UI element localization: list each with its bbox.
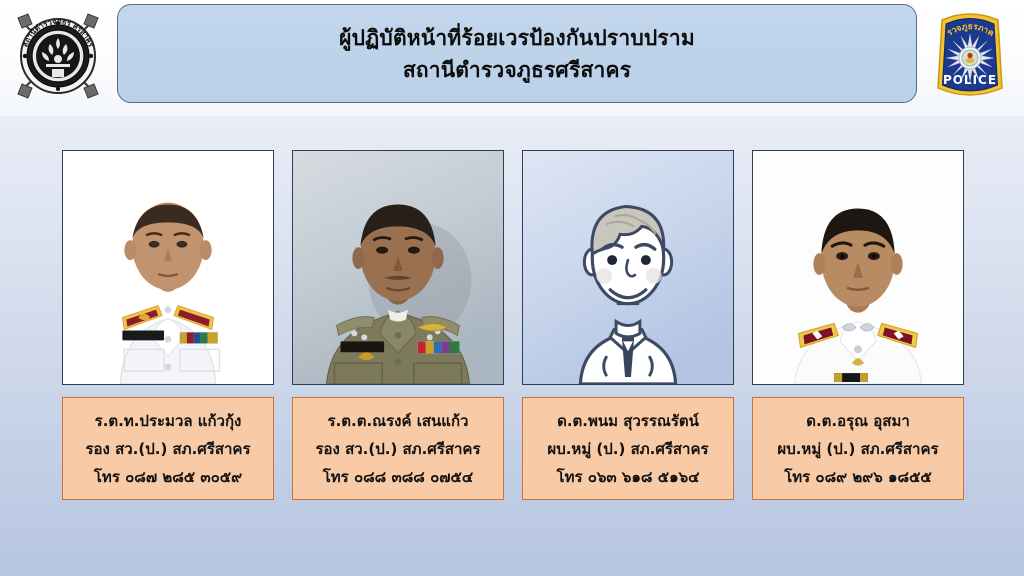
officer-name-card: ด.ต.อรุณ อุสมา ผบ.หมู่ (ป.) สภ.ศรีสาคร โ… bbox=[752, 397, 964, 500]
officer-photo-white-uniform-young bbox=[753, 151, 963, 384]
officer-name-card: ด.ต.พนม สุวรรณรัตน์ ผบ.หมู่ (ป.) สภ.ศรีส… bbox=[522, 397, 734, 500]
officer-name: ร.ต.ต.ณรงค์ เสนแก้ว bbox=[328, 407, 469, 435]
badge-bottom-text: POLICE bbox=[943, 73, 997, 87]
officer-photo-frame bbox=[522, 150, 734, 385]
officer-photo-frame bbox=[752, 150, 964, 385]
officer-name-card: ร.ต.ต.ณรงค์ เสนแก้ว รอง สว.(ป.) สภ.ศรีสา… bbox=[292, 397, 504, 500]
officer-position: รอง สว.(ป.) สภ.ศรีสาคร bbox=[315, 435, 480, 463]
officer-position: ผบ.หมู่ (ป.) สภ.ศรีสาคร bbox=[777, 435, 938, 463]
officer-photo-white-uniform bbox=[63, 151, 273, 384]
page-title-line-2: สถานีตำรวจภูธรศรีสาคร bbox=[403, 54, 631, 86]
police-station-seal-icon: สถานีตำรวจภูธร ศรีสาคร SRISAKHON POLICE … bbox=[6, 4, 110, 108]
page-title-line-1: ผู้ปฏิบัติหน้าที่ร้อยเวรป้องกันปราบปราม bbox=[339, 22, 695, 54]
officer-card: ด.ต.พนม สุวรรณรัตน์ ผบ.หมู่ (ป.) สภ.ศรีส… bbox=[522, 150, 734, 500]
officer-name-card: ร.ต.ท.ประมวล แก้วกุ้ง รอง สว.(ป.) สภ.ศรี… bbox=[62, 397, 274, 500]
officer-position: รอง สว.(ป.) สภ.ศรีสาคร bbox=[85, 435, 250, 463]
avatar-placeholder-icon bbox=[523, 151, 733, 384]
officer-photo-frame bbox=[62, 150, 274, 385]
officer-name: ด.ต.พนม สุวรรณรัตน์ bbox=[557, 407, 699, 435]
officer-photo-frame bbox=[292, 150, 504, 385]
officer-phone: โทร ๐๘๘ ๓๘๘ ๐๗๕๔ bbox=[323, 463, 474, 491]
officer-name: ด.ต.อรุณ อุสมา bbox=[806, 407, 910, 435]
officer-card: ร.ต.ท.ประมวล แก้วกุ้ง รอง สว.(ป.) สภ.ศรี… bbox=[62, 150, 274, 500]
officer-card: ร.ต.ต.ณรงค์ เสนแก้ว รอง สว.(ป.) สภ.ศรีสา… bbox=[292, 150, 504, 500]
officer-photo-khaki-uniform bbox=[293, 151, 503, 384]
title-banner: ผู้ปฏิบัติหน้าที่ร้อยเวรป้องกันปราบปราม … bbox=[117, 4, 917, 103]
officers-grid: ร.ต.ท.ประมวล แก้วกุ้ง รอง สว.(ป.) สภ.ศรี… bbox=[0, 150, 1024, 506]
officer-phone: โทร ๐๘๙ ๒๙๖ ๑๘๕๕ bbox=[784, 463, 932, 491]
royal-thai-police-badge-icon: ตำรวจภูธรภาค ๙ bbox=[922, 6, 1018, 110]
officer-name: ร.ต.ท.ประมวล แก้วกุ้ง bbox=[95, 407, 242, 435]
page-header: สถานีตำรวจภูธร ศรีสาคร SRISAKHON POLICE … bbox=[0, 0, 1024, 116]
officer-card: ด.ต.อรุณ อุสมา ผบ.หมู่ (ป.) สภ.ศรีสาคร โ… bbox=[752, 150, 964, 500]
officer-phone: โทร ๐๖๓ ๖๑๘ ๕๑๖๔ bbox=[557, 463, 700, 491]
officer-phone: โทร ๐๘๗ ๒๘๕ ๓๐๕๙ bbox=[94, 463, 242, 491]
officer-position: ผบ.หมู่ (ป.) สภ.ศรีสาคร bbox=[547, 435, 708, 463]
